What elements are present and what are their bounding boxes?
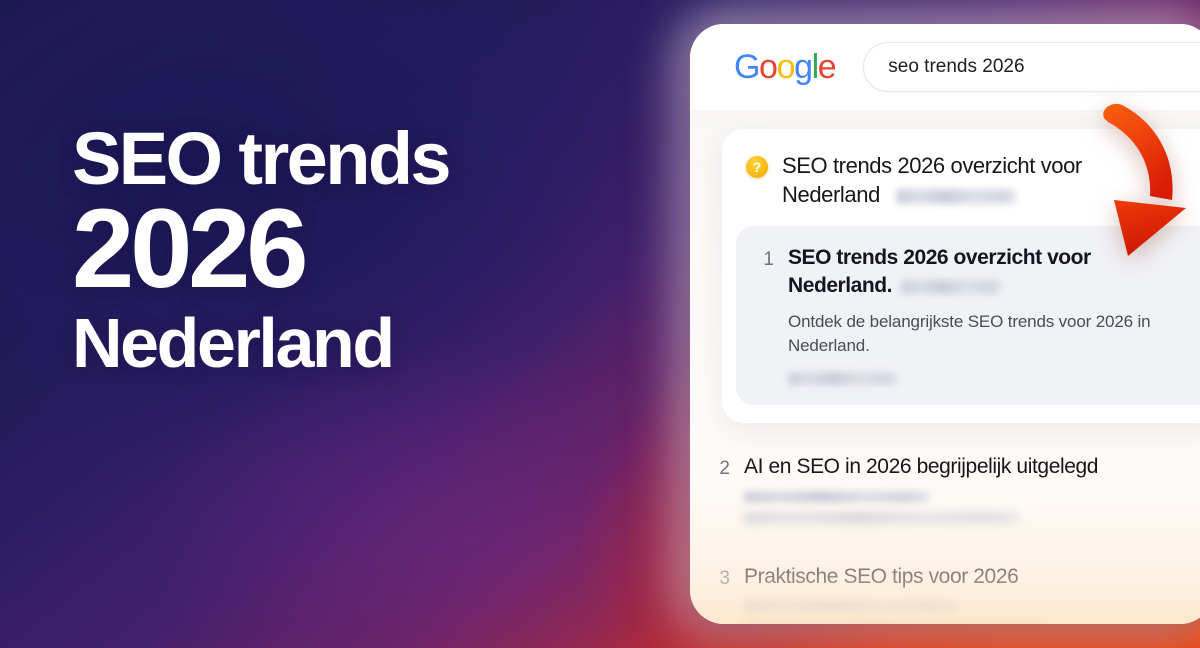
- result-snippet-line-2: Nederland.: [788, 334, 1194, 358]
- redacted-bar: [744, 621, 1044, 624]
- result-row: 3 Praktische SEO tips voor 2026: [714, 563, 1192, 624]
- headline-line-3: Nederland: [72, 310, 592, 377]
- google-logo-letter-o2: o: [777, 50, 795, 84]
- search-input[interactable]: seo trends 2026: [863, 42, 1200, 92]
- redacted-lines: [744, 491, 1192, 524]
- redacted-bar: [744, 512, 1019, 524]
- google-logo-letter-g2: g: [794, 50, 812, 84]
- headline-line-1: SEO trends: [72, 125, 592, 193]
- poster-canvas: SEO trends 2026 Nederland Google seo tre…: [0, 0, 1200, 648]
- result-title-line-2-wrap: Nederland.: [788, 272, 1194, 300]
- result-title-line-1: SEO trends 2026 overzicht voor: [788, 246, 1091, 269]
- result-rank: 1: [758, 244, 774, 274]
- result-snippet-line-1: Ontdek de belangrijkste SEO trends voor …: [788, 312, 1150, 331]
- redacted-bar: [901, 280, 1001, 294]
- redacted-bar: [744, 600, 959, 612]
- ai-overview-title-line-2-wrap: Nederland: [782, 180, 1082, 209]
- result-body: Praktische SEO tips voor 2026: [744, 563, 1192, 624]
- question-mark-icon: ?: [746, 156, 768, 178]
- google-logo[interactable]: Google: [734, 50, 835, 84]
- redacted-bar: [896, 189, 1016, 204]
- result-item[interactable]: 3 Praktische SEO tips voor 2026: [690, 563, 1200, 624]
- result-title-line-2: Nederland: [788, 274, 887, 297]
- result-row: 2 AI en SEO in 2026 begrijpelijk uitgele…: [714, 453, 1192, 533]
- result-title-suffix: .: [887, 274, 892, 297]
- redacted-bar: [744, 491, 929, 503]
- google-logo-letter-g1: G: [734, 50, 759, 84]
- headline-line-2: 2026: [72, 199, 592, 300]
- redacted-lines: [744, 600, 1192, 624]
- search-input-value: seo trends 2026: [888, 56, 1024, 78]
- result-item[interactable]: 2 AI en SEO in 2026 begrijpelijk uitgele…: [690, 453, 1200, 533]
- headline-block: SEO trends 2026 Nederland: [72, 125, 592, 376]
- result-rank: 3: [714, 563, 730, 593]
- redacted-bar: [788, 372, 898, 385]
- result-rank: 2: [714, 453, 730, 483]
- result-body: AI en SEO in 2026 begrijpelijk uitgelegd: [744, 453, 1192, 533]
- ai-overview-title: SEO trends 2026 overzicht voor Nederland: [782, 151, 1082, 210]
- result-title[interactable]: AI en SEO in 2026 begrijpelijk uitgelegd: [744, 453, 1192, 481]
- result-snippet: Ontdek de belangrijkste SEO trends voor …: [788, 310, 1194, 358]
- result-title[interactable]: Praktische SEO tips voor 2026: [744, 563, 1192, 591]
- google-logo-letter-o1: o: [759, 50, 777, 84]
- curved-down-arrow-icon: [1090, 96, 1200, 266]
- google-logo-letter-e: e: [818, 50, 836, 84]
- ai-overview-title-line-1: SEO trends 2026 overzicht voor: [782, 153, 1082, 178]
- ai-overview-title-line-2: Nederland: [782, 182, 880, 207]
